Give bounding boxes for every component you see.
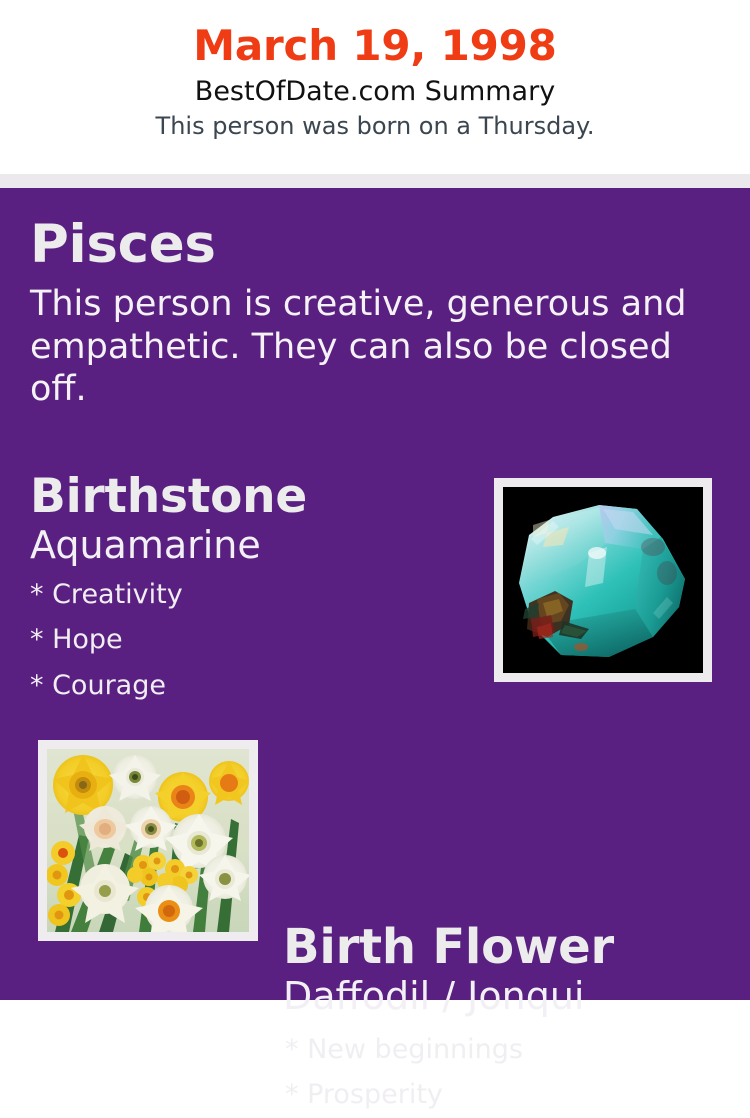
list-item: * New beginnings [285, 1027, 743, 1072]
birthstone-section: Birthstone Aquamarine * Creativity * Hop… [30, 473, 480, 708]
header-divider [0, 174, 750, 188]
birthstone-name: Aquamarine [30, 520, 480, 564]
list-item: * Creativity [30, 572, 480, 617]
list-item: * Courage [30, 663, 480, 708]
list-item: * Hope [30, 617, 480, 662]
header: March 19, 1998 BestOfDate.com Summary Th… [0, 0, 750, 174]
birthstone-photo [503, 487, 703, 673]
zodiac-section: Pisces This person is creative, generous… [30, 218, 720, 411]
birth-day-of-week-text: This person was born on a Thursday. [0, 107, 750, 141]
zodiac-description: This person is creative, generous and em… [30, 271, 705, 411]
birth-flower-trait-list: * New beginnings * Prosperity [283, 1015, 743, 1118]
birth-flower-heading: Birth Flower [283, 923, 743, 971]
page-title-date: March 19, 1998 [0, 0, 750, 69]
zodiac-sign-title: Pisces [30, 218, 720, 271]
site-name: BestOfDate.com Summary [0, 69, 750, 107]
birthstone-photo-frame [494, 478, 712, 682]
birthstone-trait-list: * Creativity * Hope * Courage [30, 564, 480, 708]
birth-flower-photo-frame [38, 740, 258, 941]
summary-card: March 19, 1998 BestOfDate.com Summary Th… [0, 0, 750, 1000]
list-item: * Prosperity [285, 1072, 743, 1117]
aquamarine-crystal-icon [503, 487, 703, 673]
birth-flower-section: Birth Flower Daffodil / Jonqui * New beg… [283, 923, 743, 1118]
daffodil-flowers-icon [47, 749, 249, 932]
birthstone-heading: Birthstone [30, 473, 480, 520]
birth-flower-name: Daffodil / Jonqui [283, 971, 743, 1015]
